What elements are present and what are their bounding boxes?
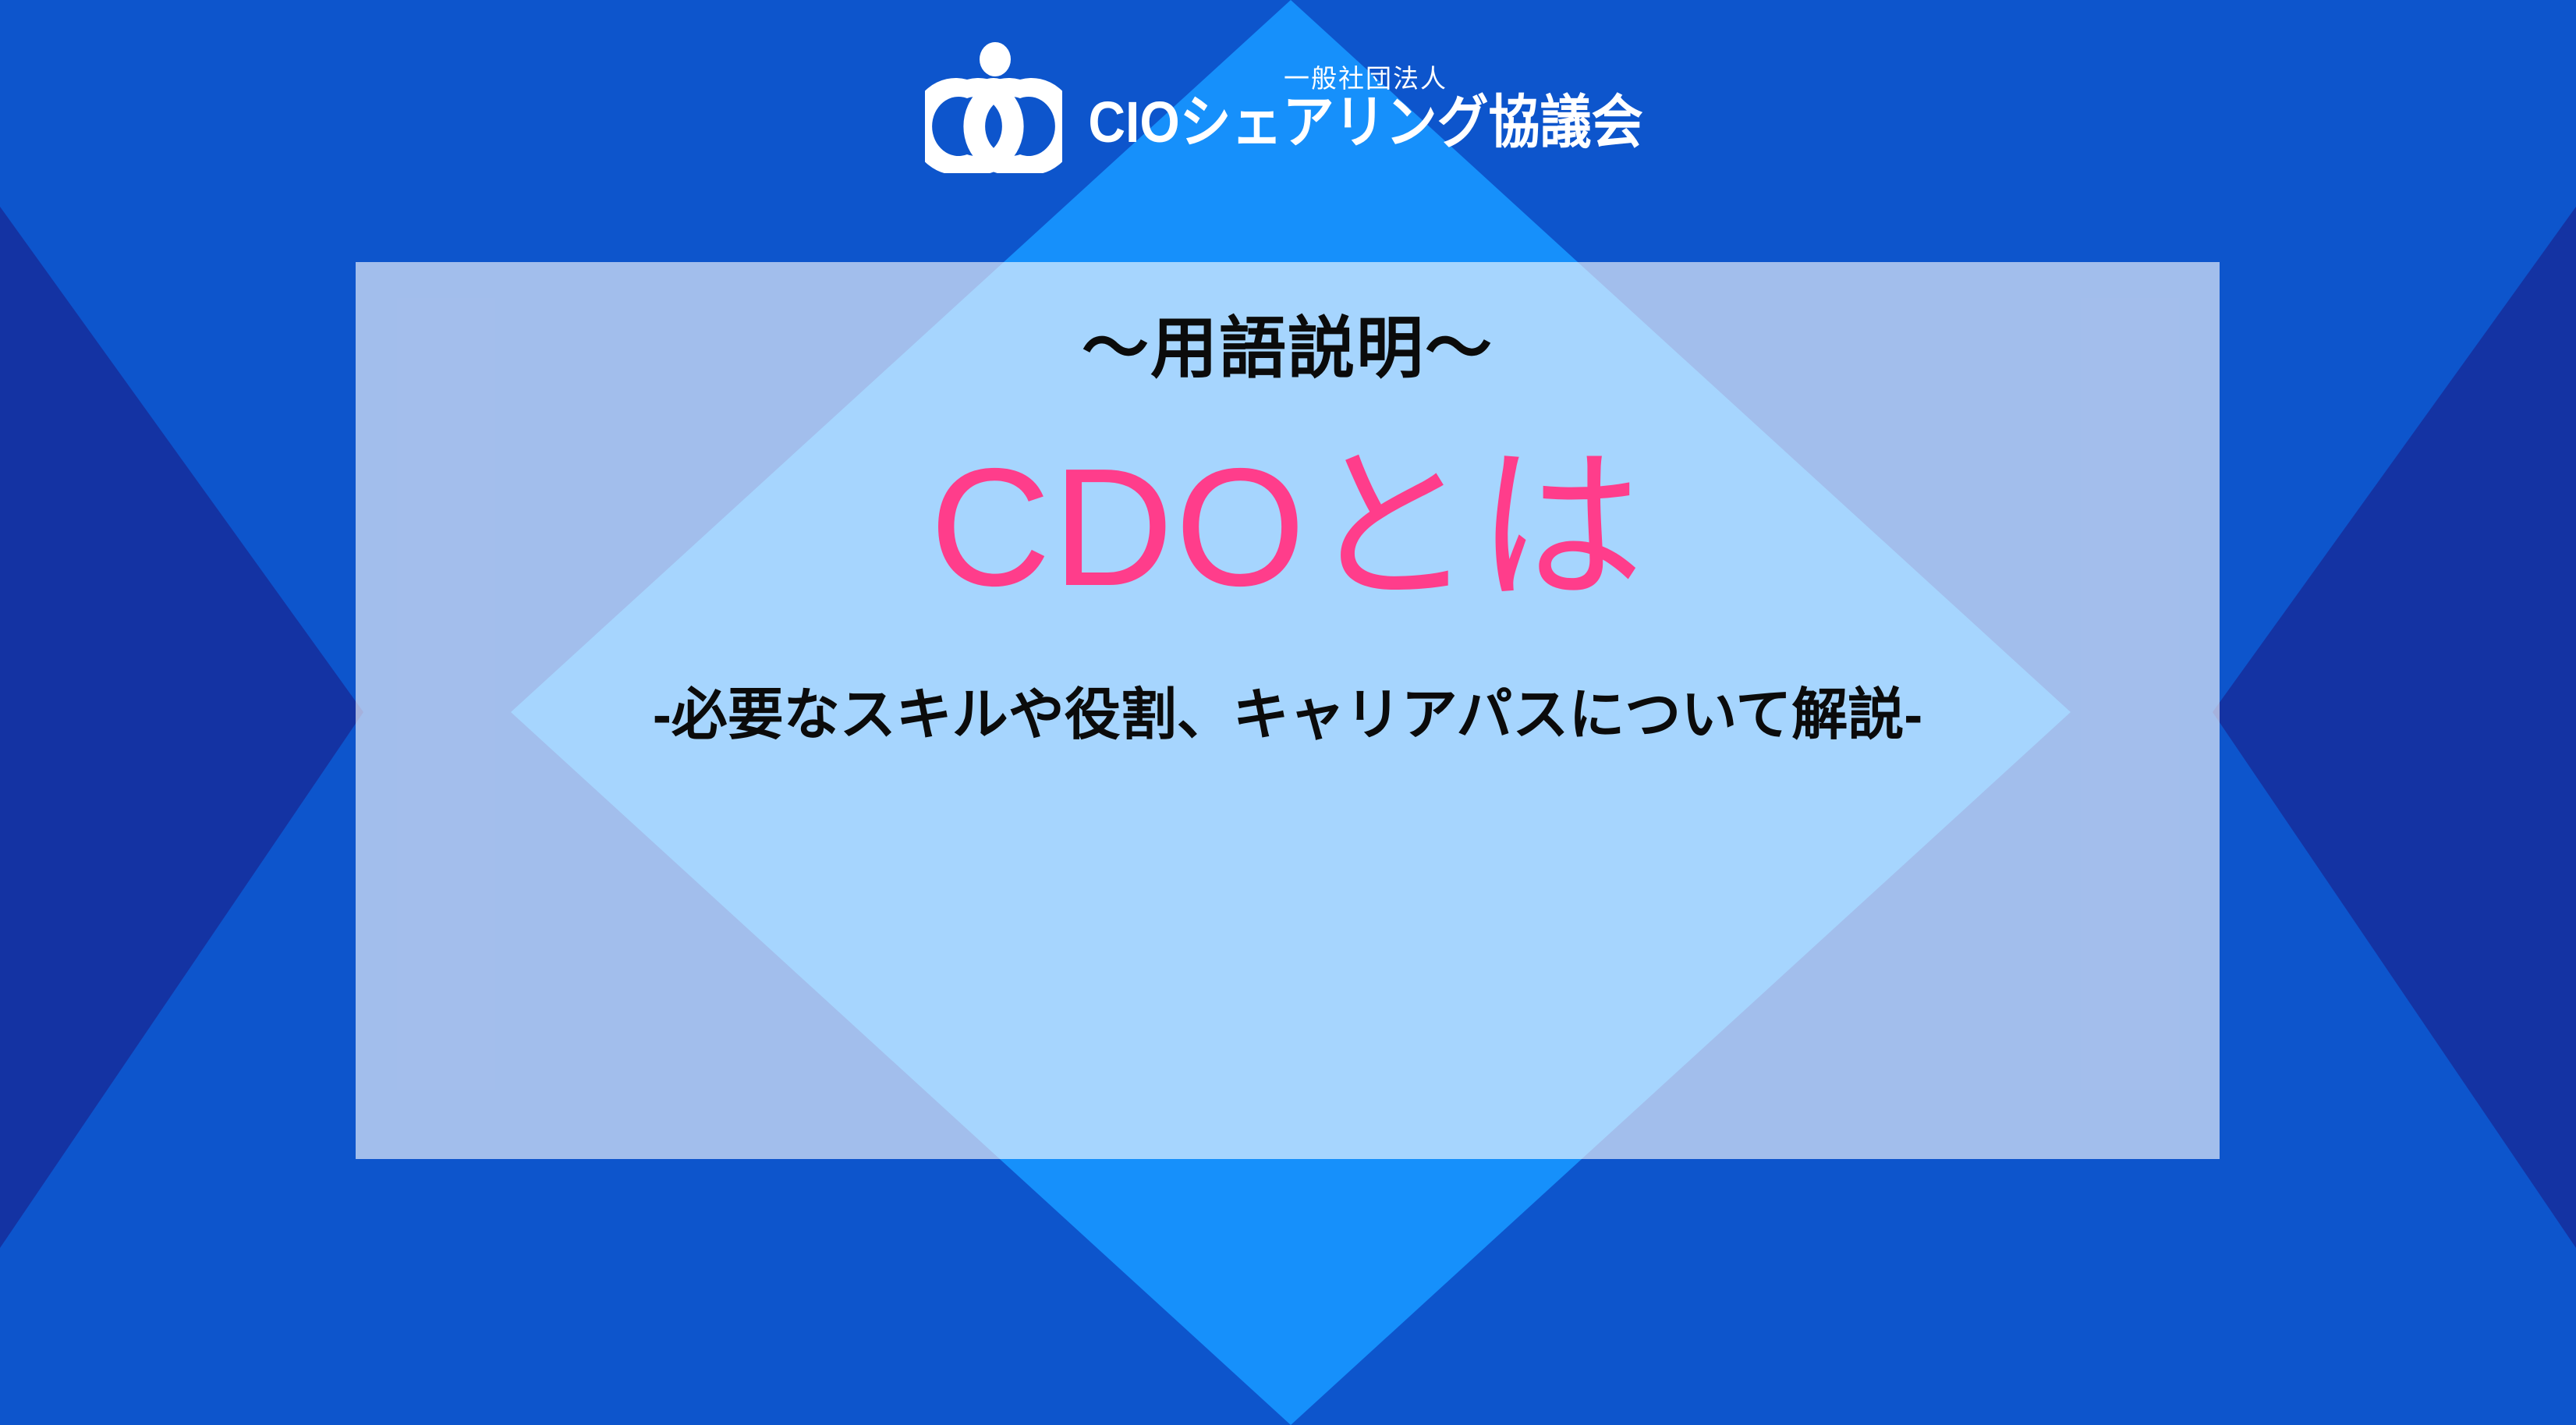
panel-subheadline: -必要なスキルや役割、キャリアパスについて解説- bbox=[653, 682, 1922, 749]
logo-organization-type: 一般社団法人 bbox=[1284, 66, 1447, 91]
title-panel: 〜用語説明〜 CDOとは -必要なスキルや役割、キャリアパスについて解説- bbox=[356, 262, 2220, 1159]
logo-wordmark: 一般社団法人 CIOシェアリング協議会 bbox=[1081, 66, 1650, 151]
organization-logo: 一般社団法人 CIOシェアリング協議会 bbox=[925, 37, 1650, 178]
logo-organization-name: CIOシェアリング協議会 bbox=[1088, 93, 1642, 151]
slide-canvas: 一般社団法人 CIOシェアリング協議会 〜用語説明〜 CDOとは -必要なスキル… bbox=[0, 0, 2576, 1425]
panel-eyebrow: 〜用語説明〜 bbox=[1082, 312, 1494, 386]
cio-rings-logo-icon bbox=[925, 42, 1062, 173]
panel-headline: CDOとは bbox=[930, 439, 1646, 615]
